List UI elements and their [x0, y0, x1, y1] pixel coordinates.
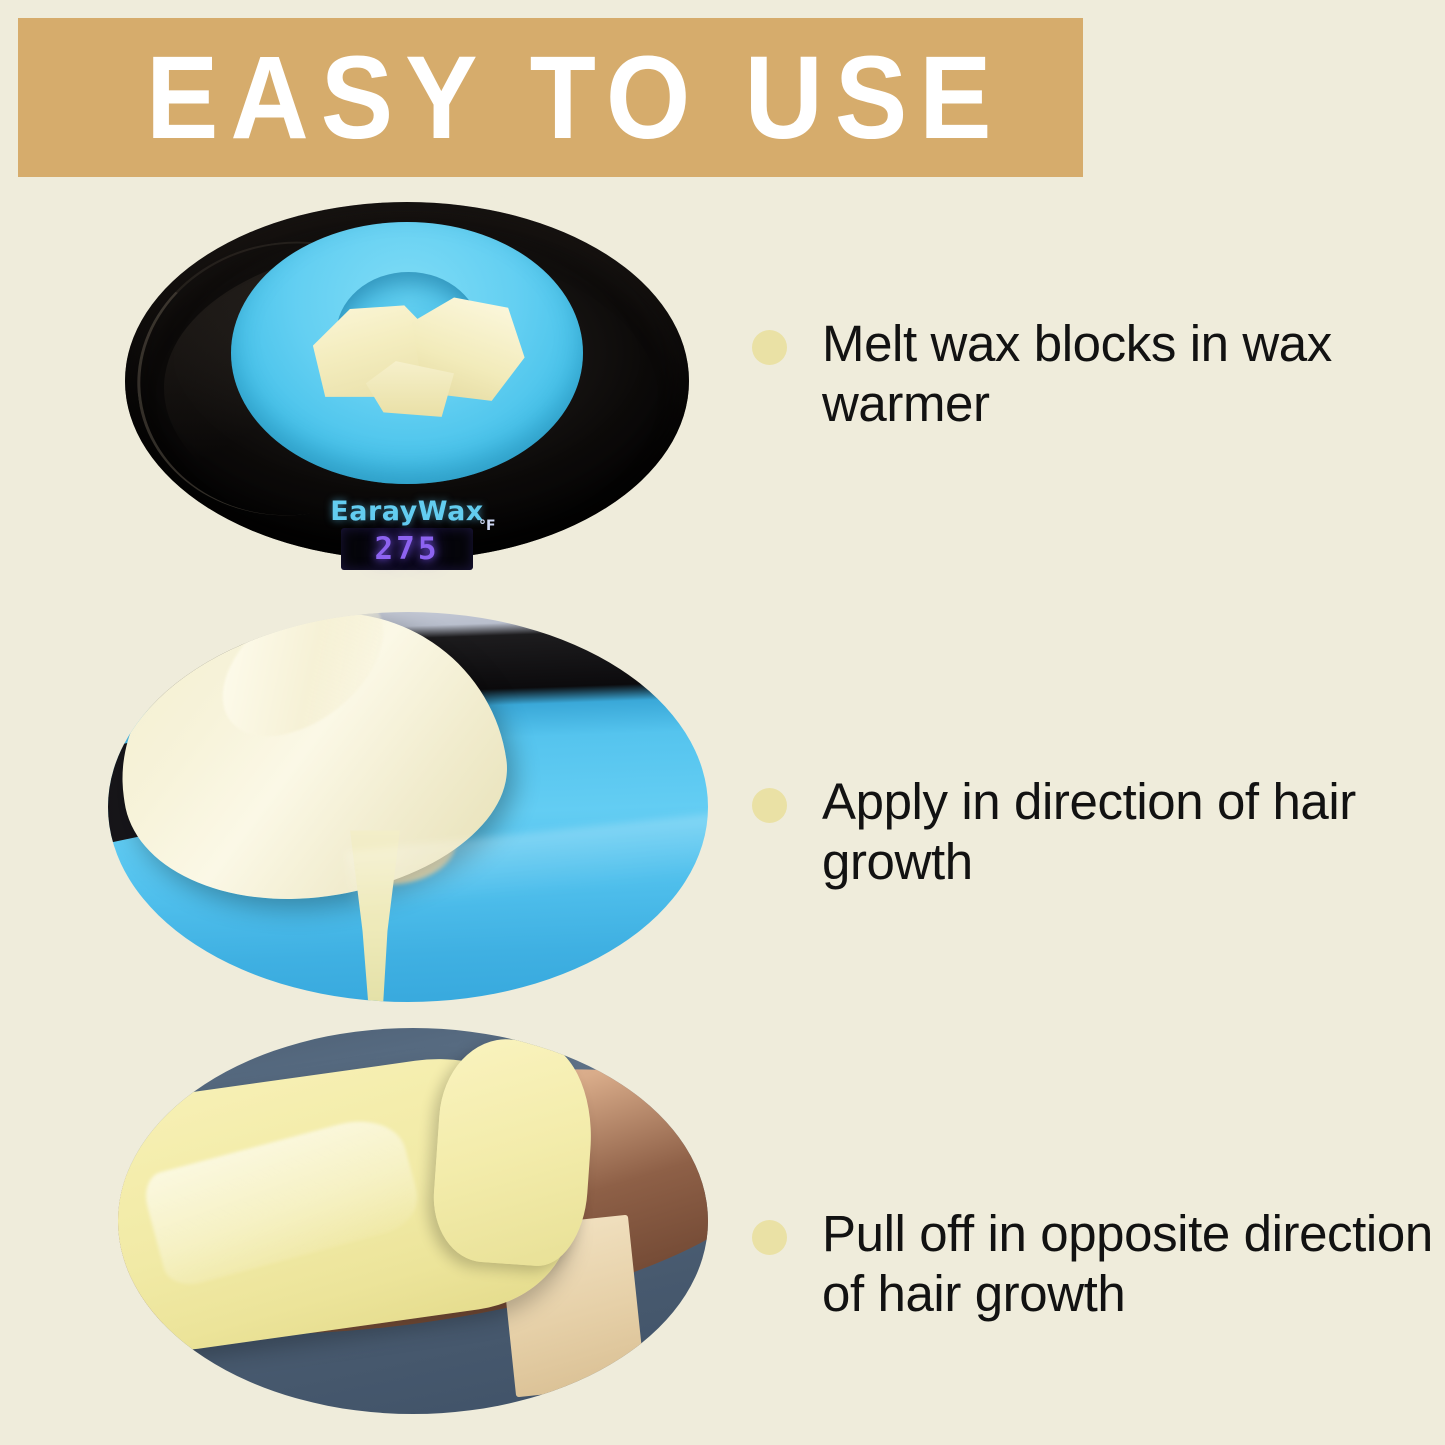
warmer-scene: EarayWax 275 °F	[113, 186, 701, 584]
spatula-edge-highlight	[196, 612, 410, 765]
wax-strip-removal-photo	[118, 1028, 708, 1414]
bullet-dot-icon	[752, 330, 787, 365]
step-row-1: EarayWax 275 °F Melt wax blocks in wax w…	[0, 186, 1445, 586]
page-title: EASY TO USE	[146, 39, 1004, 157]
step-caption-1: Melt wax blocks in wax warmer	[752, 314, 1422, 434]
strip-removal-scene	[118, 1028, 708, 1414]
wax-warmer-photo: EarayWax 275 °F	[113, 186, 701, 584]
warmer-temperature-value: 275	[375, 531, 440, 567]
step-caption-text-3: Pull off in opposite direction of hair g…	[822, 1204, 1445, 1324]
pouring-scene	[108, 612, 708, 1002]
wax-strip-fold	[429, 1035, 598, 1269]
header-banner: EASY TO USE	[18, 18, 1083, 177]
wax-pouring-photo	[108, 612, 708, 1002]
step-caption-3: Pull off in opposite direction of hair g…	[752, 1204, 1445, 1324]
wax-strip-sheen	[140, 1110, 426, 1292]
warmer-temperature-unit: °F	[479, 518, 496, 534]
wax-applicator-spatula	[108, 612, 522, 922]
bullet-dot-icon	[752, 1220, 787, 1255]
bullet-dot-icon	[752, 788, 787, 823]
step-caption-2: Apply in direction of hair growth	[752, 772, 1422, 892]
step-caption-text-2: Apply in direction of hair growth	[822, 772, 1422, 892]
wax-drip-stream	[336, 830, 414, 1002]
step-row-2: Apply in direction of hair growth	[0, 612, 1445, 1004]
warmer-brand-label: EarayWax	[113, 496, 701, 527]
step-row-3: Pull off in opposite direction of hair g…	[0, 1028, 1445, 1418]
warmer-temperature-display: 275	[341, 528, 473, 570]
step-caption-text-1: Melt wax blocks in wax warmer	[822, 314, 1422, 434]
